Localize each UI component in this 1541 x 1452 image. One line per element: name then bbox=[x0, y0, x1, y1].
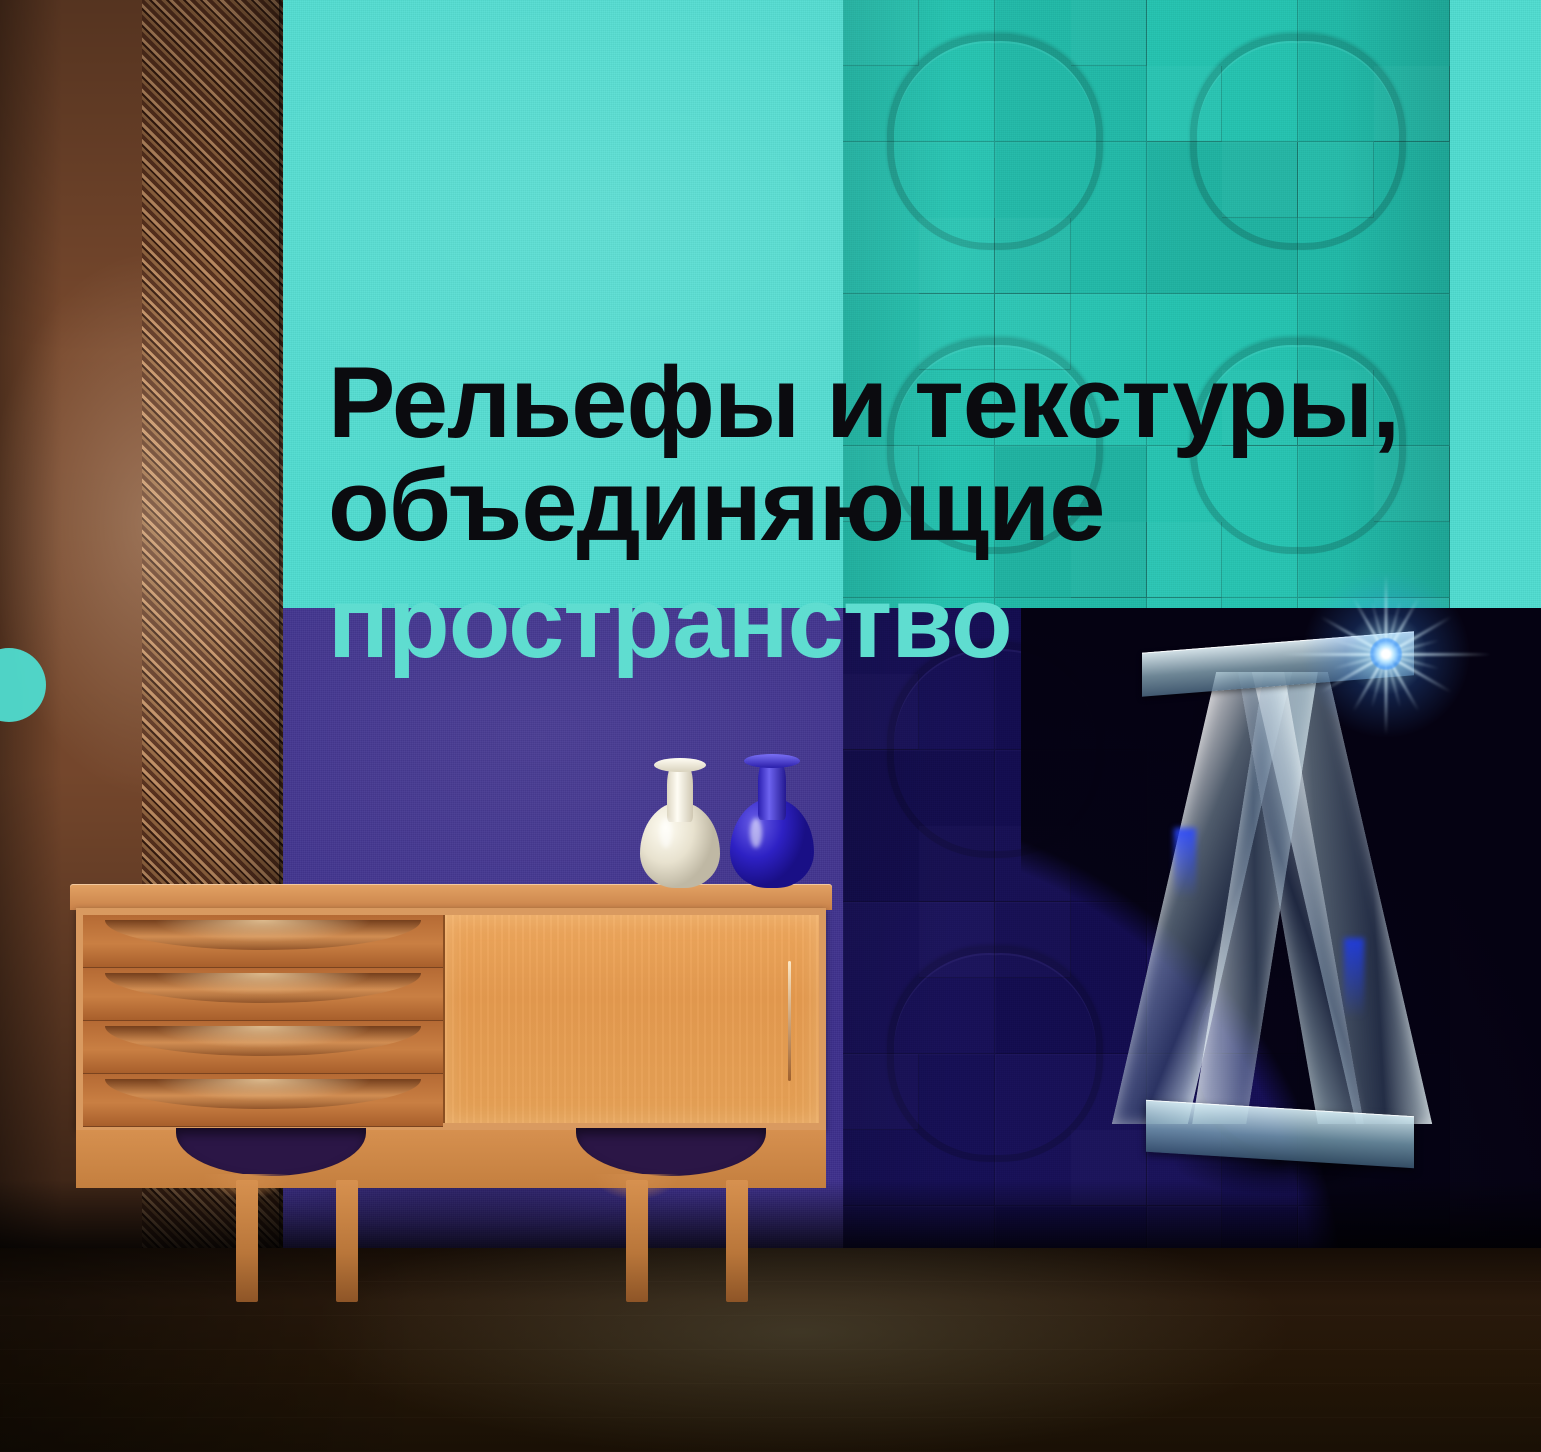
sideboard-furniture bbox=[66, 884, 836, 1250]
vase-highlight bbox=[660, 818, 672, 848]
drawer[interactable] bbox=[83, 915, 443, 968]
drawer-pull bbox=[105, 1026, 422, 1056]
sideboard-leg bbox=[626, 1180, 648, 1302]
drawer[interactable] bbox=[83, 968, 443, 1021]
headline-line-3: пространство bbox=[328, 572, 1508, 675]
sideboard-leg bbox=[236, 1180, 258, 1302]
sideboard-sliding-door[interactable] bbox=[443, 915, 819, 1123]
sideboard-drawers bbox=[83, 915, 443, 1123]
vase-lip bbox=[744, 754, 800, 768]
vase-highlight bbox=[750, 818, 762, 848]
door-handle[interactable] bbox=[788, 961, 791, 1081]
drawer-pull bbox=[105, 1079, 422, 1109]
hardwood-floor bbox=[0, 1248, 1541, 1452]
wood-grain bbox=[445, 915, 819, 1123]
sideboard-body bbox=[76, 908, 826, 1130]
banner-stage: Рельефы и текстуры, объединяющие простра… bbox=[0, 0, 1541, 1452]
crystal-blue-refraction bbox=[1174, 828, 1196, 898]
headline-line-2: объединяющие bbox=[328, 455, 1508, 558]
white-ceramic-vase bbox=[640, 760, 720, 888]
apron-notch bbox=[176, 1128, 366, 1176]
sideboard-leg bbox=[726, 1180, 748, 1302]
drawer[interactable] bbox=[83, 1021, 443, 1074]
blue-glass-vase bbox=[730, 756, 814, 888]
floor-sheen bbox=[280, 1248, 1541, 1452]
crystal-side-table bbox=[1128, 638, 1428, 1198]
sideboard-leg bbox=[336, 1180, 358, 1302]
drawer-pull bbox=[105, 920, 422, 950]
headline: Рельефы и текстуры, объединяющие простра… bbox=[328, 352, 1508, 675]
vase-lip bbox=[654, 758, 706, 772]
crystal-blue-refraction bbox=[1344, 938, 1364, 1018]
drawer[interactable] bbox=[83, 1074, 443, 1127]
drawer-pull bbox=[105, 973, 422, 1003]
headline-line-1: Рельефы и текстуры, bbox=[328, 352, 1508, 455]
apron-notch bbox=[576, 1128, 766, 1176]
